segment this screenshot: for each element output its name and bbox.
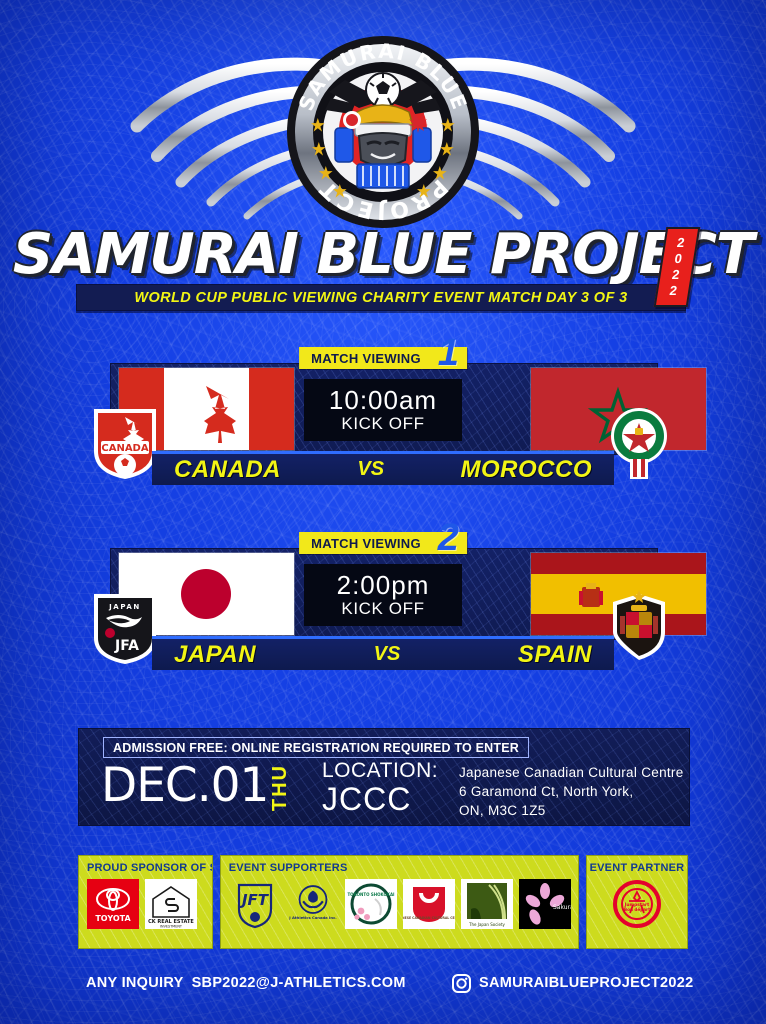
- crest-canada: CANADA: [88, 403, 162, 481]
- admission-notice: ADMISSION FREE: ONLINE REGISTRATION REQU…: [103, 737, 529, 758]
- sakura-logo: Sakura: [519, 879, 571, 929]
- sakura-label: Sakura: [553, 904, 571, 911]
- vs-label: VS: [374, 643, 401, 666]
- kickoff-label: KICK OFF: [341, 414, 424, 434]
- soccer-ball-icon: [366, 73, 400, 107]
- inquiry-email[interactable]: SBP2022@J-ATHLETICS.COM: [192, 975, 406, 991]
- away-team-name: MOROCCO: [461, 456, 593, 484]
- match-card-2: JAPAN JFA MATCH VIEWING 2 2:00pm KICK OF…: [0, 530, 766, 680]
- match-viewing-label: MATCH VIEWING: [311, 351, 421, 366]
- location-label: LOCATION:: [322, 759, 438, 782]
- j-athletics-canada-logo: J Athletics Canada Inc.: [287, 879, 339, 929]
- year-digit: 0: [673, 251, 683, 267]
- jccc-label: JAPANESE CANADIAN CULTURAL CENTRE: [403, 916, 455, 920]
- venue-address: Japanese Canadian Cultural Centre 6 Gara…: [459, 763, 684, 820]
- jumpstart-logo: Jumpstart Bon départ: [611, 879, 663, 929]
- instagram-handle: SAMURAIBLUEPROJECT2022: [479, 975, 693, 991]
- vs-label: VS: [357, 458, 384, 481]
- shokokai-label: TORONTO SHOKOKAI: [347, 892, 395, 897]
- address-line: Japanese Canadian Cultural Centre: [459, 763, 684, 782]
- address-line: ON, M3C 1Z5: [459, 801, 684, 820]
- poster-subtitle-bar: WORLD CUP PUBLIC VIEWING CHARITY EVENT M…: [76, 284, 686, 311]
- poster-footer: ANY INQUIRY SBP2022@J-ATHLETICS.COM SAMU…: [0, 963, 766, 1003]
- event-info-panel: ADMISSION FREE: ONLINE REGISTRATION REQU…: [78, 728, 690, 826]
- samurai-blue-project-logo: SAMURAI BLUE PROJECT: [285, 34, 481, 230]
- kickoff-time: 10:00am: [329, 386, 437, 414]
- location-block: LOCATION: JCCC: [322, 759, 438, 816]
- match-viewing-badge-2: MATCH VIEWING 2: [299, 532, 467, 554]
- toyota-logo: TOYOTA: [87, 879, 139, 929]
- year-digit: 2: [676, 235, 686, 251]
- svg-text:CANADA: CANADA: [101, 443, 148, 454]
- instagram-block[interactable]: SAMURAIBLUEPROJECT2022: [452, 974, 693, 993]
- svg-text:JFA: JFA: [114, 638, 139, 654]
- proud-sponsor-panel: PROUD SPONSOR OF SBP TOYOTA: [78, 855, 213, 949]
- home-team-name: CANADA: [174, 456, 281, 484]
- kickoff-label: KICK OFF: [341, 599, 424, 619]
- team-names-band-2: JAPAN VS SPAIN: [152, 636, 614, 670]
- event-date: DEC.01 THU: [101, 760, 290, 812]
- poster-title-block: SAMURAI BLUE PROJECT WORLD CUP PUBLIC VI…: [0, 222, 766, 312]
- inquiry-block: ANY INQUIRY SBP2022@J-ATHLETICS.COM: [86, 975, 406, 991]
- crest-japan-jfa: JAPAN JFA: [88, 588, 162, 666]
- jft-crest-logo: JFT: [229, 879, 281, 929]
- svg-text:JAPAN: JAPAN: [108, 603, 141, 611]
- toyota-label: TOYOTA: [95, 914, 131, 923]
- kickoff-time-box-2: 2:00pm KICK OFF: [304, 564, 462, 626]
- team-names-band-1: CANADA VS MOROCCO: [152, 451, 614, 485]
- event-supporters-title: EVENT SUPPORTERS: [229, 862, 578, 874]
- event-partner-title: EVENT PARTNER: [587, 862, 687, 874]
- match-card-1: CANADA MATCH VIEWING 1 10:00am KICK OFF: [0, 345, 766, 495]
- instagram-icon: [452, 974, 471, 993]
- ck-sublabel: INVESTMENT: [160, 925, 183, 929]
- jft-label: JFT: [239, 891, 270, 909]
- poster-subtitle: WORLD CUP PUBLIC VIEWING CHARITY EVENT M…: [134, 290, 627, 306]
- j-athletics-label: J Athletics Canada Inc.: [288, 916, 337, 920]
- ck-real-estate-logo: CK REAL ESTATE INVESTMENT: [145, 879, 197, 929]
- year-digit: 2: [668, 283, 678, 299]
- match-viewing-label: MATCH VIEWING: [311, 536, 421, 551]
- match-viewing-number: 2: [438, 519, 459, 557]
- poster-title: SAMURAI BLUE PROJECT: [13, 222, 753, 287]
- day-of-week: THU: [270, 764, 290, 811]
- kickoff-time-box-1: 10:00am KICK OFF: [304, 379, 462, 441]
- year-digit: 2: [671, 267, 681, 283]
- japan-society-logo: The Japan Society: [461, 879, 513, 929]
- away-team-name: SPAIN: [518, 641, 592, 669]
- match-viewing-badge-1: MATCH VIEWING 1: [299, 347, 467, 369]
- home-team-name: JAPAN: [174, 641, 256, 669]
- proud-sponsor-title: PROUD SPONSOR OF SBP: [87, 862, 212, 874]
- japan-society-label: The Japan Society: [468, 922, 505, 927]
- event-supporters-panel: EVENT SUPPORTERS JFT J Athletics Canada …: [220, 855, 579, 949]
- inquiry-label: ANY INQUIRY: [86, 975, 184, 991]
- jumpstart-sublabel: Bon départ: [624, 907, 650, 912]
- sponsor-strip: PROUD SPONSOR OF SBP TOYOTA: [78, 855, 688, 949]
- location-value: JCCC: [322, 782, 438, 816]
- jccc-logo: JAPANESE CANADIAN CULTURAL CENTRE: [403, 879, 455, 929]
- admission-text: ADMISSION FREE: ONLINE REGISTRATION REQU…: [113, 741, 519, 755]
- toronto-shokokai-logo: TORONTO SHOKOKAI: [345, 879, 397, 929]
- date-value: DEC.01: [101, 760, 268, 812]
- kickoff-time: 2:00pm: [337, 571, 430, 599]
- match-viewing-number: 1: [438, 334, 459, 372]
- address-line: 6 Garamond Ct, North York,: [459, 782, 684, 801]
- event-poster: SAMURAI BLUE PROJECT: [0, 0, 766, 1024]
- event-partner-panel: EVENT PARTNER Jumpstart Bon départ: [586, 855, 688, 949]
